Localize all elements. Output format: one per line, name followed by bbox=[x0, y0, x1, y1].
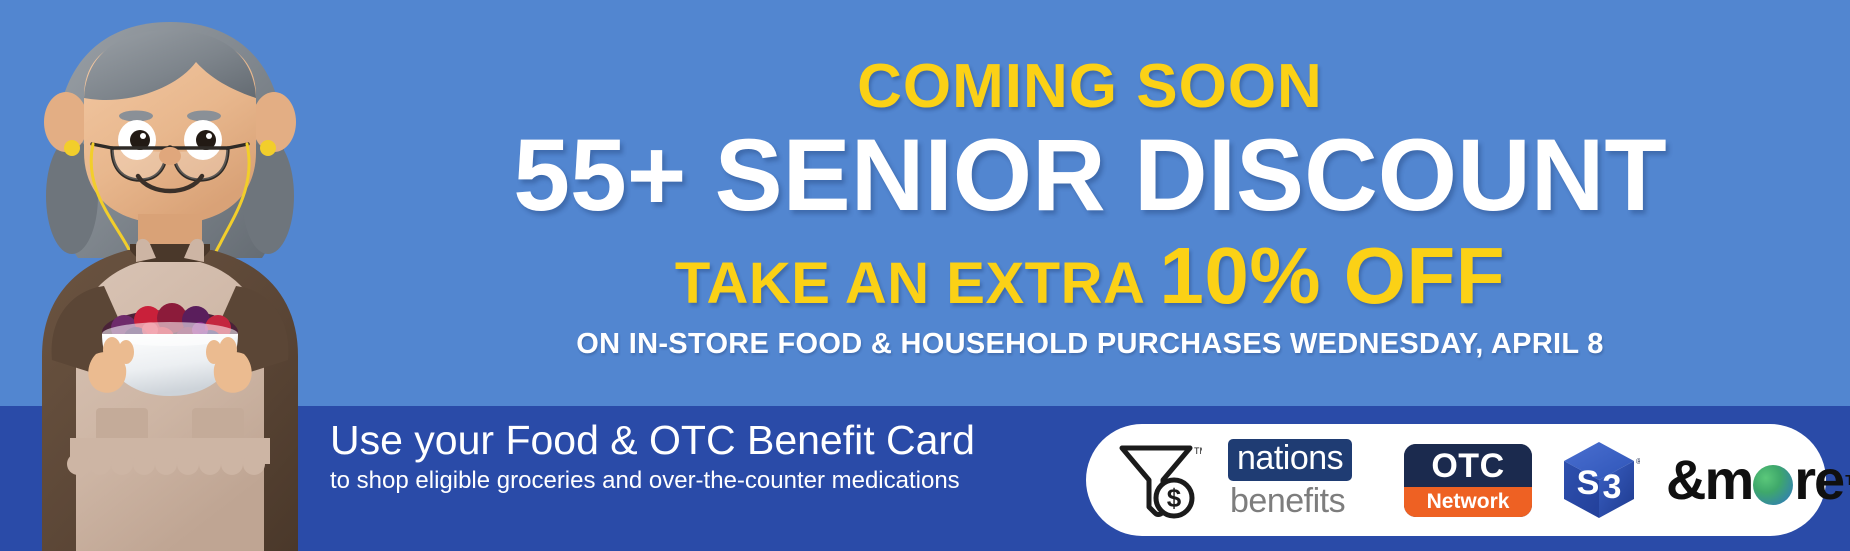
earring-right bbox=[260, 140, 276, 156]
svg-text:S: S bbox=[1577, 464, 1600, 502]
partner-logos-pill: $ TM nations benefits OTC Network bbox=[1086, 424, 1826, 536]
svg-text:3: 3 bbox=[1603, 468, 1622, 506]
nations-wordmark-bottom: benefits bbox=[1228, 483, 1378, 520]
eye-highlight-right bbox=[206, 133, 212, 139]
benefit-card-message: Use your Food & OTC Benefit Card to shop… bbox=[330, 418, 950, 496]
otc-network-logo: OTC Network bbox=[1404, 444, 1532, 517]
andmore-sphere-icon bbox=[1753, 465, 1793, 505]
andmore-ampersand: & bbox=[1666, 452, 1704, 508]
andmore-logo: &mreTM bbox=[1666, 452, 1850, 508]
svg-text:$: $ bbox=[1167, 483, 1182, 513]
offer-amount: 10% OFF bbox=[1159, 231, 1505, 320]
senior-woman-illustration bbox=[0, 0, 340, 551]
funnel-dollar-icon: $ TM bbox=[1116, 440, 1202, 520]
nations-wordmark-top: nations bbox=[1228, 439, 1352, 481]
otc-network-wordmark: Network bbox=[1404, 487, 1532, 517]
eye-highlight-left bbox=[140, 133, 146, 139]
eyebrow-left bbox=[119, 111, 153, 122]
offer-line: TAKE AN EXTRA10% OFF bbox=[675, 236, 1505, 316]
neck bbox=[138, 214, 202, 244]
otc-wordmark: OTC bbox=[1404, 444, 1532, 487]
page-title: 55+ SENIOR DISCOUNT bbox=[513, 124, 1666, 226]
andmore-trademark: TM bbox=[1845, 473, 1850, 488]
eyebrow-right bbox=[187, 111, 221, 122]
nations-word: nations bbox=[1237, 439, 1343, 477]
benefit-card-subline: to shop eligible groceries and over-the-… bbox=[330, 467, 950, 496]
andmore-m: m bbox=[1704, 452, 1752, 508]
nations-benefits-logo: nations benefits bbox=[1228, 439, 1378, 520]
svg-text:®: ® bbox=[1636, 457, 1640, 466]
andmore-re: re bbox=[1794, 452, 1843, 508]
s3-cube-logo: S 3 ® bbox=[1558, 438, 1640, 522]
senior-discount-promo-banner: COMING SOON 55+ SENIOR DISCOUNT TAKE AN … bbox=[0, 0, 1850, 551]
headline-block: COMING SOON 55+ SENIOR DISCOUNT TAKE AN … bbox=[330, 0, 1850, 406]
earring-left bbox=[64, 140, 80, 156]
svg-text:TM: TM bbox=[1194, 446, 1202, 456]
eyebrow-coming-soon: COMING SOON bbox=[857, 56, 1323, 118]
nose bbox=[159, 147, 181, 165]
offer-disclaimer: ON IN-STORE FOOD & HOUSEHOLD PURCHASES W… bbox=[576, 330, 1603, 359]
offer-prefix: TAKE AN EXTRA bbox=[675, 251, 1146, 316]
benefit-card-headline: Use your Food & OTC Benefit Card bbox=[330, 418, 950, 464]
apron-scalloped-hem bbox=[67, 438, 270, 475]
